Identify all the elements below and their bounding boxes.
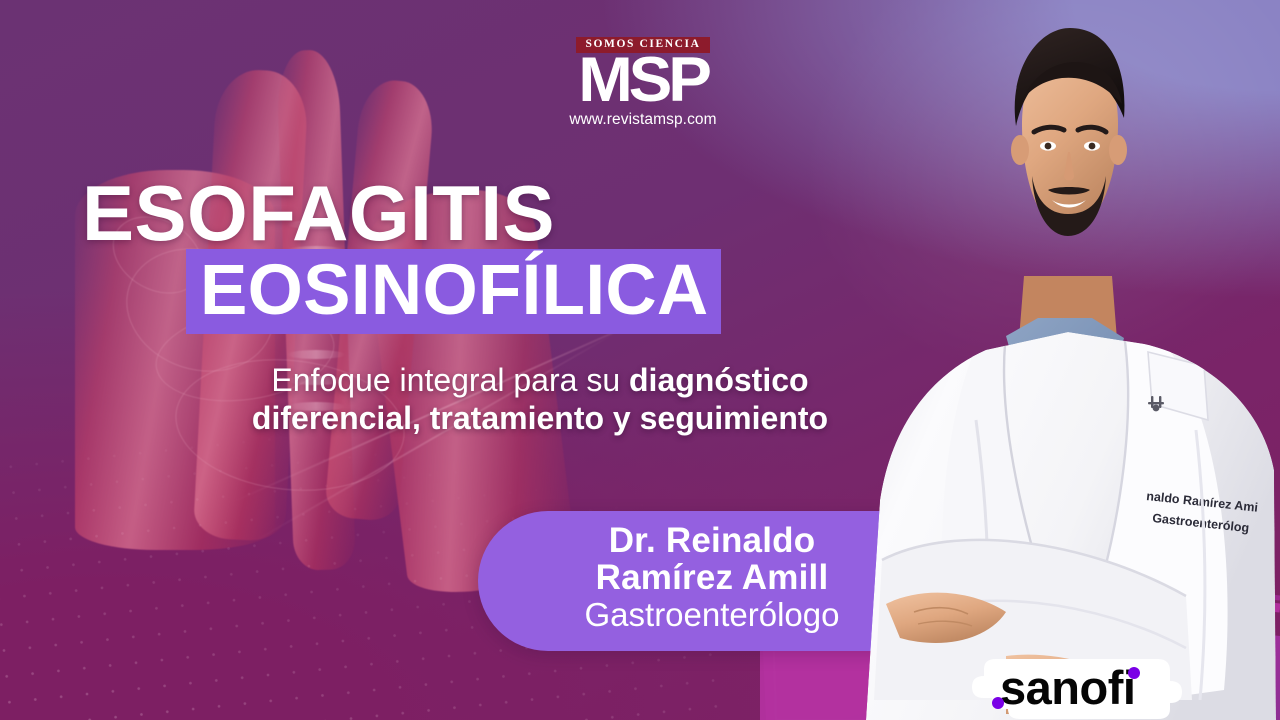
msp-logo: SOMOS CIENCIA MSP www.revistamsp.com: [548, 34, 738, 129]
title-line-1: ESOFAGITIS: [82, 176, 912, 251]
subtitle-line-1: Enfoque integral para su diagnóstico: [190, 362, 890, 400]
doctor-portrait-photo: naldo Ramírez Ami Gastroenterólog: [856, 0, 1280, 720]
sanofi-logo: sanofi: [962, 655, 1190, 720]
speaker-name-line-1: Dr. Reinaldo: [544, 522, 880, 559]
subtitle-line-2: diferencial, tratamiento y seguimiento: [190, 400, 890, 438]
speaker-specialty: Gastroenterólogo: [544, 597, 880, 633]
subtitle-plain-text: Enfoque integral para su: [271, 362, 629, 398]
page-title: ESOFAGITIS EOSINOFÍLICA: [82, 176, 912, 334]
speaker-name-badge: Dr. Reinaldo Ramírez Amill Gastroenteról…: [478, 511, 898, 651]
subtitle: Enfoque integral para su diagnóstico dif…: [190, 362, 890, 438]
speaker-name-line-2: Ramírez Amill: [544, 559, 880, 596]
subtitle-bold-text-2: diferencial, tratamiento y seguimiento: [252, 400, 828, 436]
title-highlight-box: EOSINOFÍLICA: [186, 249, 721, 334]
sanofi-wordmark: sanofi: [1000, 664, 1135, 711]
title-line-2: EOSINOFÍLICA: [200, 255, 709, 326]
msp-wordmark: MSP: [544, 55, 742, 107]
sanofi-i-dot-icon: [1128, 667, 1140, 679]
video-title-card: SOMOS CIENCIA MSP www.revistamsp.com ESO…: [0, 0, 1280, 720]
subtitle-bold-text: diagnóstico: [629, 362, 809, 398]
sanofi-accent-dot: [992, 697, 1004, 709]
